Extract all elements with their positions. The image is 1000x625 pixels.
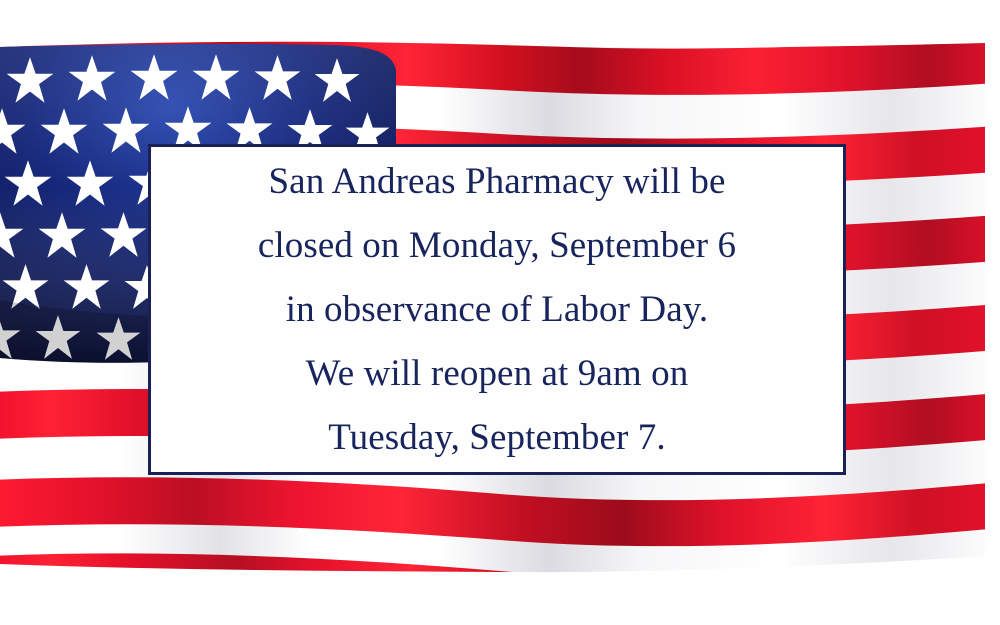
notice-line-4: We will reopen at 9am on [151,342,843,406]
notice-line-2: closed on Monday, September 6 [151,214,843,278]
notice-line-5: Tuesday, September 7. [151,406,843,470]
notice-line-3: in observance of Labor Day. [151,278,843,342]
notice-line-1: San Andreas Pharmacy will be [151,150,843,214]
announcement-graphic: San Andreas Pharmacy will be closed on M… [0,0,1000,625]
holiday-closure-notice: San Andreas Pharmacy will be closed on M… [148,144,846,475]
